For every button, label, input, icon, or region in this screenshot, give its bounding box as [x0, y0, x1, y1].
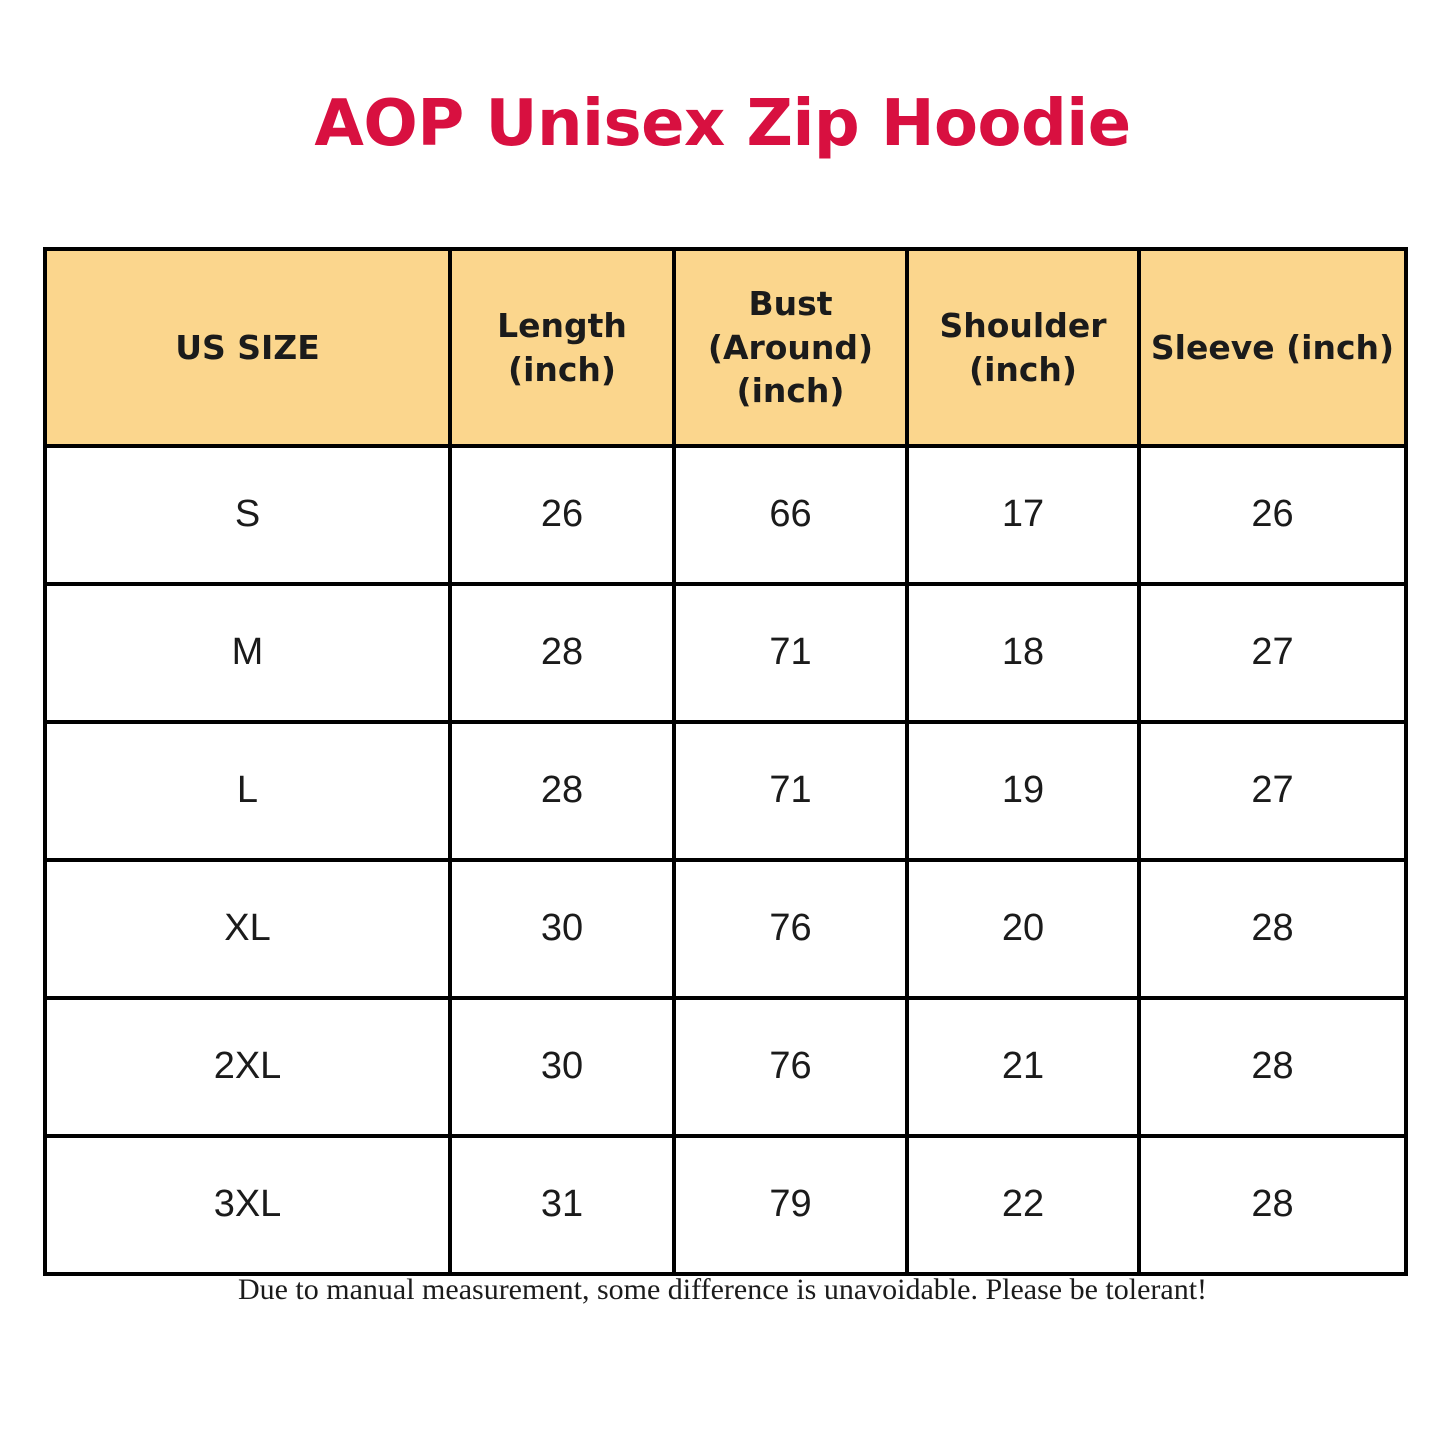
column-header-sleeve: Sleeve (inch): [1139, 249, 1406, 446]
column-header-bust-line2: (Around): [708, 328, 873, 367]
cell-shoulder: 21: [907, 998, 1139, 1136]
table-row: S 26 66 17 26: [45, 446, 1406, 584]
table-row: L 28 71 19 27: [45, 722, 1406, 860]
table-header: US SIZE Length (inch) Bust (Around) (inc…: [45, 249, 1406, 446]
cell-length: 28: [450, 722, 674, 860]
cell-us-size: 3XL: [45, 1136, 450, 1274]
measurement-disclaimer: Due to manual measurement, some differen…: [0, 1272, 1445, 1308]
table-body: S 26 66 17 26 M 28 71 18 27 L 28 71: [45, 446, 1406, 1274]
table-row: M 28 71 18 27: [45, 584, 1406, 722]
cell-length: 30: [450, 860, 674, 998]
column-header-shoulder-line1: Shoulder: [939, 306, 1106, 345]
cell-us-size: 2XL: [45, 998, 450, 1136]
cell-sleeve: 26: [1139, 446, 1406, 584]
table-row: 3XL 31 79 22 28: [45, 1136, 1406, 1274]
cell-shoulder: 18: [907, 584, 1139, 722]
column-header-length-line1: Length: [497, 306, 627, 345]
column-header-shoulder-line2: (inch): [969, 350, 1077, 389]
cell-us-size: S: [45, 446, 450, 584]
column-header-bust-line1: Bust: [748, 284, 832, 323]
cell-sleeve: 27: [1139, 722, 1406, 860]
size-chart-table-container: US SIZE Length (inch) Bust (Around) (inc…: [43, 247, 1404, 1276]
column-header-shoulder: Shoulder (inch): [907, 249, 1139, 446]
cell-length: 31: [450, 1136, 674, 1274]
cell-length: 30: [450, 998, 674, 1136]
table-row: 2XL 30 76 21 28: [45, 998, 1406, 1136]
column-header-us-size: US SIZE: [45, 249, 450, 446]
size-chart-page: AOP Unisex Zip Hoodie US SIZE Length (in…: [0, 0, 1445, 1445]
size-chart-table: US SIZE Length (inch) Bust (Around) (inc…: [43, 247, 1408, 1276]
cell-bust: 71: [674, 722, 907, 860]
cell-bust: 76: [674, 998, 907, 1136]
cell-sleeve: 28: [1139, 1136, 1406, 1274]
cell-bust: 79: [674, 1136, 907, 1274]
column-header-length-line2: (inch): [508, 350, 616, 389]
cell-length: 26: [450, 446, 674, 584]
column-header-bust-line3: (inch): [736, 371, 844, 410]
cell-bust: 76: [674, 860, 907, 998]
cell-sleeve: 28: [1139, 860, 1406, 998]
cell-us-size: XL: [45, 860, 450, 998]
cell-sleeve: 28: [1139, 998, 1406, 1136]
cell-shoulder: 19: [907, 722, 1139, 860]
column-header-bust: Bust (Around) (inch): [674, 249, 907, 446]
cell-us-size: L: [45, 722, 450, 860]
cell-shoulder: 20: [907, 860, 1139, 998]
cell-bust: 66: [674, 446, 907, 584]
column-header-length: Length (inch): [450, 249, 674, 446]
column-header-us-size-label: US SIZE: [175, 328, 320, 367]
cell-sleeve: 27: [1139, 584, 1406, 722]
cell-shoulder: 17: [907, 446, 1139, 584]
table-header-row: US SIZE Length (inch) Bust (Around) (inc…: [45, 249, 1406, 446]
cell-length: 28: [450, 584, 674, 722]
cell-bust: 71: [674, 584, 907, 722]
cell-shoulder: 22: [907, 1136, 1139, 1274]
table-row: XL 30 76 20 28: [45, 860, 1406, 998]
cell-us-size: M: [45, 584, 450, 722]
column-header-sleeve-label: Sleeve (inch): [1151, 328, 1394, 367]
page-title: AOP Unisex Zip Hoodie: [0, 92, 1445, 156]
